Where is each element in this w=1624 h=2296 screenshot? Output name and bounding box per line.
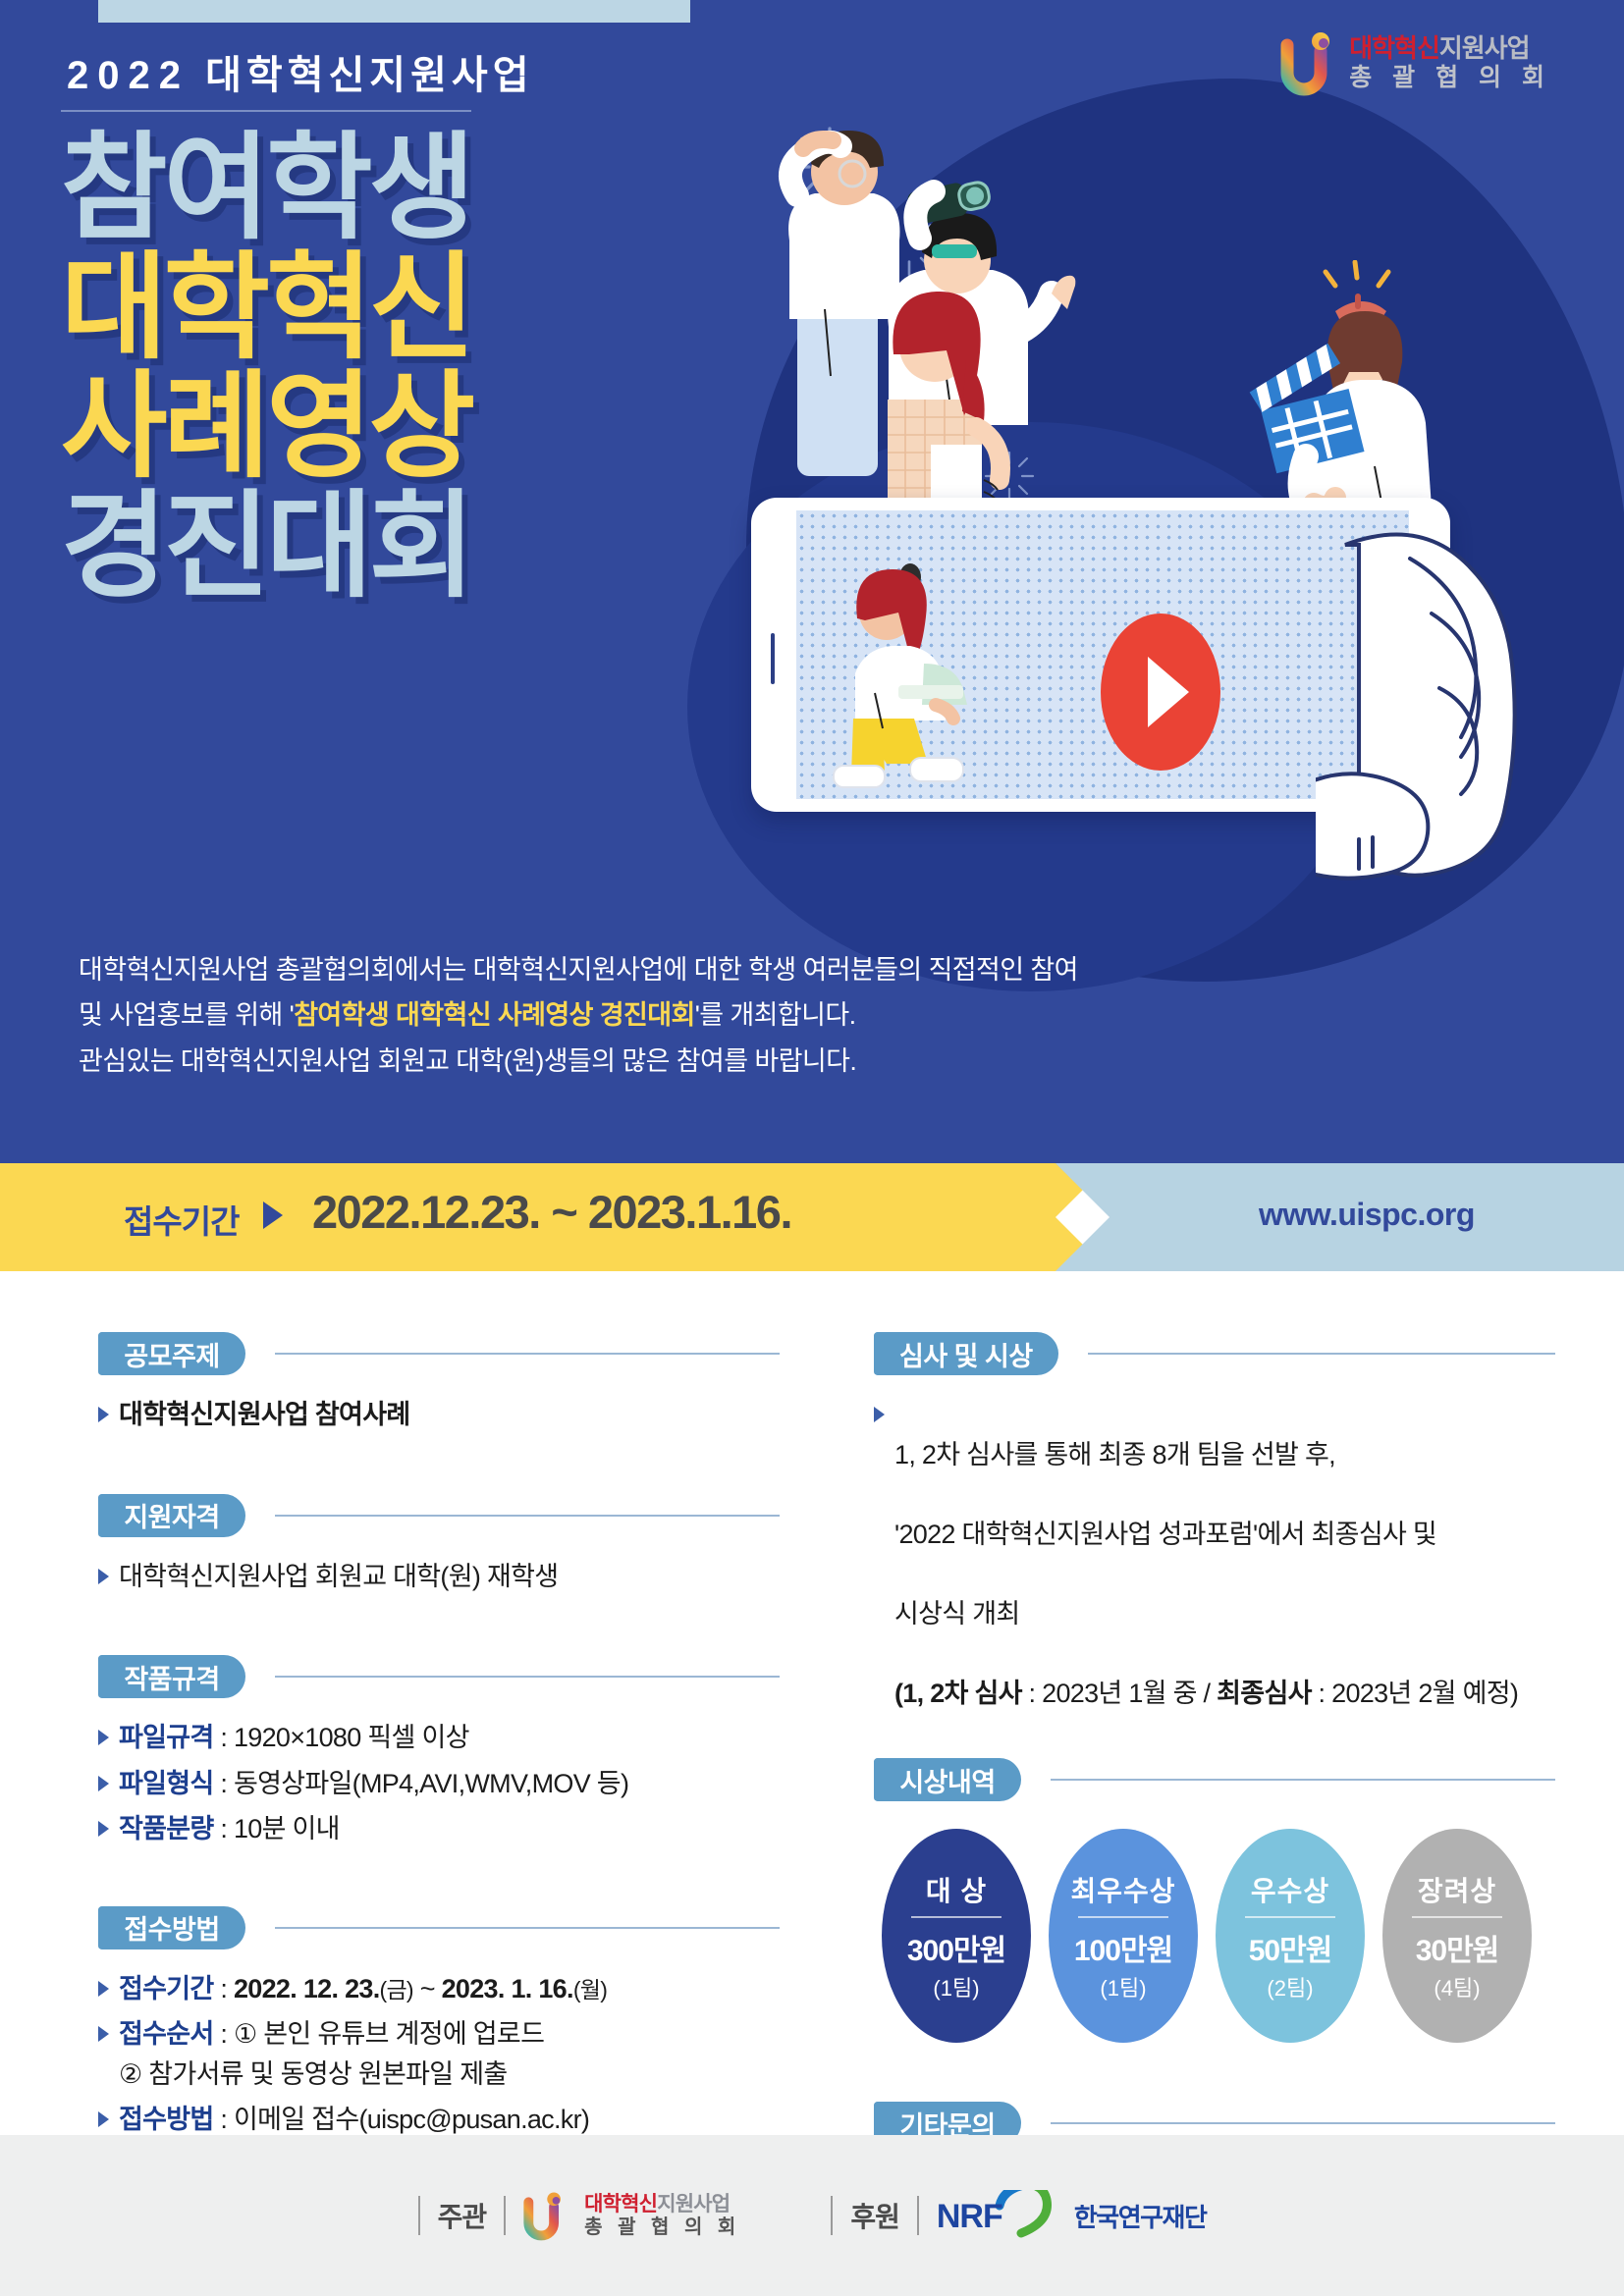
prize-excellence-top: 최우수상 100만원 (1팀) (1049, 1829, 1198, 2043)
prize-teams: (2팀) (1267, 1971, 1313, 2002)
howto-method-item: 접수방법 : 이메일 접수(uispc@pusan.ac.kr) (119, 2100, 589, 2140)
footer: 주관 (0, 2135, 1624, 2296)
nrf-logo: NRF 한국연구재단 (937, 2190, 1207, 2241)
footer-host-group: 주관 (418, 2189, 741, 2242)
section-rule (275, 1515, 780, 1517)
bullet-triangle-icon (874, 1407, 885, 1422)
bullet-triangle-icon (98, 1821, 109, 1837)
organization-logo-gray-text: 지원사업 (1439, 33, 1530, 63)
footer-host-line1: 대학혁신지원사업 (584, 2193, 730, 2216)
organization-logo: 대학혁신지원사업 총 괄 협 의 회 (1280, 29, 1551, 96)
footer-host-gray-text: 지원사업 (657, 2193, 730, 2216)
judging-text: 1, 2차 심사를 통해 최종 8개 팀을 선발 후, '2022 대학혁신지원… (894, 1395, 1518, 1713)
bullet-triangle-icon (98, 1407, 109, 1422)
section-topic-title: 공모주제 (98, 1332, 245, 1375)
spec-key: 작품분량 (119, 1814, 214, 1843)
nrf-korean-name: 한국연구재단 (1074, 2198, 1207, 2234)
top-accent-bar (98, 0, 690, 23)
judging-line-1: 1, 2차 심사를 통해 최종 8개 팀을 선발 후, (894, 1440, 1335, 1469)
prize-divider (1078, 1916, 1168, 1918)
content-section: 공모주제 대학혁신지원사업 참여사례 지원자격 (0, 1271, 1624, 2135)
section-specs: 작품규격 파일규격 : 1920×1080 픽셀 이상 파일형식 : 동영상파일… (98, 1653, 785, 1849)
section-specs-title: 작품규격 (98, 1655, 245, 1698)
bullet-triangle-icon (98, 1730, 109, 1745)
nrf-abbr-text: NRF (937, 2198, 1002, 2236)
footer-sponsor-label: 후원 (850, 2196, 899, 2235)
section-eligibility-title: 지원자격 (98, 1494, 245, 1537)
howto-order-item: 접수순서 : ① 본인 유튜브 계정에 업로드 ② 참가서류 및 동영상 원본파… (119, 2014, 544, 2094)
header-divider (61, 110, 471, 112)
footer-divider (831, 2196, 833, 2235)
section-judging-title: 심사 및 시상 (874, 1332, 1058, 1375)
prize-encouragement: 장려상 30만원 (4팀) (1382, 1829, 1532, 2043)
judging-line-2: '2022 대학혁신지원사업 성과포럼'에서 최종심사 및 (894, 1520, 1436, 1549)
description-line2-highlight: 참여학생 대학혁신 사례영상 경진대회 (294, 1000, 695, 1030)
prize-grand: 대 상 300만원 (1팀) (882, 1829, 1031, 2043)
section-awards-header: 시상내역 (874, 1756, 1561, 1803)
howto-sep: : (214, 1974, 234, 2003)
footer-divider (917, 2196, 919, 2235)
howto-period-item: 접수기간 : 2022. 12. 23.(금) ~ 2023. 1. 16.(월… (119, 1969, 607, 2009)
eyebrow-title: 2022 대학혁신지원사업 (67, 43, 534, 100)
section-topic-header: 공모주제 (98, 1330, 785, 1377)
section-rule (275, 1927, 780, 1929)
section-topic: 공모주제 대학혁신지원사업 참여사례 (98, 1330, 785, 1435)
section-rule (1051, 1779, 1555, 1781)
footer-divider (504, 2196, 506, 2235)
howto-end-date: 2023. 1. 16. (442, 1974, 573, 2003)
judging-line-4-label-a: (1, 2차 심사 (894, 1679, 1022, 1708)
play-triangle-icon (1148, 657, 1189, 727)
section-howto: 접수방법 접수기간 : 2022. 12. 23.(금) ~ 2023. 1. … (98, 1904, 785, 2140)
organization-logo-line2: 총 괄 협 의 회 (1349, 64, 1551, 91)
prize-name: 장려상 (1418, 1870, 1496, 1909)
prize-teams: (1팀) (1100, 1971, 1146, 2002)
section-howto-title: 접수방법 (98, 1906, 245, 1949)
section-awards-title: 시상내역 (874, 1758, 1021, 1801)
banner-website-link[interactable]: www.uispc.org (1259, 1197, 1475, 1233)
bullet-triangle-icon (98, 1569, 109, 1584)
howto-key: 접수순서 (119, 2019, 214, 2049)
judging-line-3: 시상식 개최 (894, 1599, 1020, 1629)
organization-logo-red-text: 대학혁신 (1349, 33, 1439, 63)
spec-item: 파일규격 : 1920×1080 픽셀 이상 (119, 1718, 469, 1758)
prize-divider (1412, 1916, 1502, 1918)
description-line2-prefix: 및 사업홍보를 위해 ' (79, 1000, 294, 1030)
organization-logo-line1: 대학혁신지원사업 (1349, 34, 1551, 63)
prize-name: 최우수상 (1070, 1870, 1175, 1909)
poster-root: 2022 대학혁신지원사업 (0, 0, 1624, 2296)
spec-value: : 1920×1080 픽셀 이상 (214, 1723, 469, 1752)
eligibility-item-text: 대학혁신지원사업 회원교 대학(원) 재학생 (119, 1557, 558, 1597)
topic-item-text: 대학혁신지원사업 참여사례 (119, 1395, 409, 1435)
section-judging-body: 1, 2차 심사를 통해 최종 8개 팀을 선발 후, '2022 대학혁신지원… (874, 1377, 1561, 1713)
prize-amount: 50만원 (1249, 1926, 1332, 1969)
phone-side-button (771, 633, 775, 684)
section-topic-body: 대학혁신지원사업 참여사례 (98, 1377, 785, 1435)
judging-line-4-label-b: 최종심사 (1217, 1679, 1312, 1708)
main-headline: 참여학생 대학혁신 사례영상 경진대회 (61, 130, 471, 607)
prize-list: 대 상 300만원 (1팀) 최우수상 100만원 (1팀) 우수상 (874, 1803, 1561, 2043)
prize-teams: (4팀) (1434, 1971, 1480, 2002)
prize-amount: 300만원 (907, 1926, 1005, 1969)
howto-start-date: 2022. 12. 23. (234, 1974, 380, 2003)
spec-key: 파일규격 (119, 1723, 214, 1752)
howto-key: 접수기간 (119, 1974, 214, 2003)
headline-line-4: 경진대회 (61, 488, 471, 608)
list-item: 파일규격 : 1920×1080 픽셀 이상 (98, 1718, 785, 1758)
list-item: 대학혁신지원사업 참여사례 (98, 1395, 785, 1435)
howto-range-sep: ~ (413, 1974, 442, 2003)
person-microphone-illustration (830, 556, 1026, 801)
spec-item: 작품분량 : 10분 이내 (119, 1809, 340, 1849)
footer-sponsor-group: 후원 NRF 한국연구재단 (831, 2190, 1206, 2241)
application-period-banner: 접수기간 2022.12.23. ~ 2023.1.16. www.uispc.… (0, 1163, 1624, 1271)
section-specs-header: 작품규격 (98, 1653, 785, 1700)
section-rule (275, 1353, 780, 1355)
howto-end-day: (월) (573, 1977, 607, 2002)
spec-value: : 동영상파일(MP4,AVI,WMV,MOV 등) (214, 1769, 629, 1798)
prize-amount: 100만원 (1074, 1926, 1172, 1969)
prize-teams: (1팀) (933, 1971, 979, 2002)
section-eligibility-body: 대학혁신지원사업 회원교 대학(원) 재학생 (98, 1539, 785, 1597)
spec-key: 파일형식 (119, 1769, 214, 1798)
section-judging: 심사 및 시상 1, 2차 심사를 통해 최종 8개 팀을 선발 후, '202… (874, 1330, 1561, 1713)
section-rule (1051, 2122, 1555, 2124)
howto-key: 접수방법 (119, 2105, 214, 2134)
headline-line-3: 사례영상 (61, 368, 471, 488)
organization-logo-text: 대학혁신지원사업 총 괄 협 의 회 (1349, 34, 1551, 90)
description-line-2: 및 사업홍보를 위해 '참여학생 대학혁신 사례영상 경진대회'를 개최합니다. (79, 992, 1257, 1038)
section-howto-header: 접수방법 (98, 1904, 785, 1951)
hero-illustration (727, 93, 1624, 996)
headline-line-2: 대학혁신 (61, 249, 471, 369)
prize-excellence: 우수상 50만원 (2팀) (1216, 1829, 1365, 2043)
list-item: 대학혁신지원사업 회원교 대학(원) 재학생 (98, 1557, 785, 1597)
bullet-triangle-icon (98, 2111, 109, 2127)
uispc-mark-icon (523, 2189, 567, 2242)
bullet-triangle-icon (98, 2026, 109, 2042)
section-specs-body: 파일규격 : 1920×1080 픽셀 이상 파일형식 : 동영상파일(MP4,… (98, 1700, 785, 1849)
section-howto-body: 접수기간 : 2022. 12. 23.(금) ~ 2023. 1. 16.(월… (98, 1951, 785, 2140)
prize-divider (1245, 1916, 1335, 1918)
section-eligibility: 지원자격 대학혁신지원사업 회원교 대학(원) 재학생 (98, 1492, 785, 1597)
hand-holding-phone-illustration (1316, 506, 1624, 967)
description-line-1: 대학혁신지원사업 총괄협의회에서는 대학혁신지원사업에 대한 학생 여러분들의 … (79, 947, 1257, 992)
judging-line-4-value-b: : 2023년 2월 예정) (1312, 1679, 1518, 1708)
description-line-3: 관심있는 대학혁신지원사업 회원교 대학(원)생들의 많은 참여를 바랍니다. (79, 1039, 1257, 1084)
section-rule (275, 1676, 780, 1678)
footer-divider (418, 2196, 420, 2235)
left-column: 공모주제 대학혁신지원사업 참여사례 지원자격 (98, 1330, 785, 2154)
list-item: 접수방법 : 이메일 접수(uispc@pusan.ac.kr) (98, 2100, 785, 2140)
list-item: 접수순서 : ① 본인 유튜브 계정에 업로드 ② 참가서류 및 동영상 원본파… (98, 2014, 785, 2094)
bullet-triangle-icon (98, 1981, 109, 1997)
spec-item: 파일형식 : 동영상파일(MP4,AVI,WMV,MOV 등) (119, 1764, 628, 1804)
banner-period-dates: 2022.12.23. ~ 2023.1.16. (312, 1185, 791, 1239)
spec-value: : 10분 이내 (214, 1814, 340, 1843)
bullet-triangle-icon (98, 1776, 109, 1791)
footer-host-line2: 총 괄 협 의 회 (584, 2216, 740, 2238)
headline-line-1: 참여학생 (61, 130, 471, 249)
eyebrow-program-name: 대학혁신지원사업 (205, 54, 533, 97)
prize-name: 대 상 (926, 1870, 987, 1909)
uispc-mark-icon (1280, 29, 1337, 96)
footer-host-red-text: 대학혁신 (584, 2193, 657, 2216)
hero-description: 대학혁신지원사업 총괄협의회에서는 대학혁신지원사업에 대한 학생 여러분들의 … (79, 947, 1257, 1084)
list-item: 작품분량 : 10분 이내 (98, 1809, 785, 1849)
nrf-mark-icon: NRF (937, 2190, 1064, 2241)
section-eligibility-header: 지원자격 (98, 1492, 785, 1539)
list-item: 접수기간 : 2022. 12. 23.(금) ~ 2023. 1. 16.(월… (98, 1969, 785, 2009)
play-button-icon (1101, 614, 1220, 771)
banner-period-label: 접수기간 (124, 1196, 239, 1243)
section-awards: 시상내역 대 상 300만원 (1팀) 최우수상 100만원 (1팀) (874, 1756, 1561, 2043)
description-line2-suffix: '를 개최합니다. (695, 1000, 856, 1030)
list-item: 파일형식 : 동영상파일(MP4,AVI,WMV,MOV 등) (98, 1764, 785, 1804)
hero-section: 2022 대학혁신지원사업 (0, 0, 1624, 1163)
list-item: 1, 2차 심사를 통해 최종 8개 팀을 선발 후, '2022 대학혁신지원… (874, 1395, 1561, 1713)
section-rule (1088, 1353, 1555, 1355)
footer-host-label: 주관 (438, 2196, 487, 2235)
prize-divider (911, 1916, 1001, 1918)
judging-line-4-value-a: : 2023년 1월 중 / (1022, 1679, 1217, 1708)
section-judging-header: 심사 및 시상 (874, 1330, 1561, 1377)
banner-arrow-icon (263, 1201, 283, 1229)
footer-host-logo-text: 대학혁신지원사업 총 괄 협 의 회 (584, 2193, 740, 2237)
prize-name: 우수상 (1251, 1870, 1329, 1909)
howto-start-day: (금) (380, 1977, 413, 2002)
howto-value: : 이메일 접수(uispc@pusan.ac.kr) (214, 2105, 590, 2134)
eyebrow-year: 2022 (67, 54, 189, 97)
prize-amount: 30만원 (1416, 1926, 1499, 1969)
